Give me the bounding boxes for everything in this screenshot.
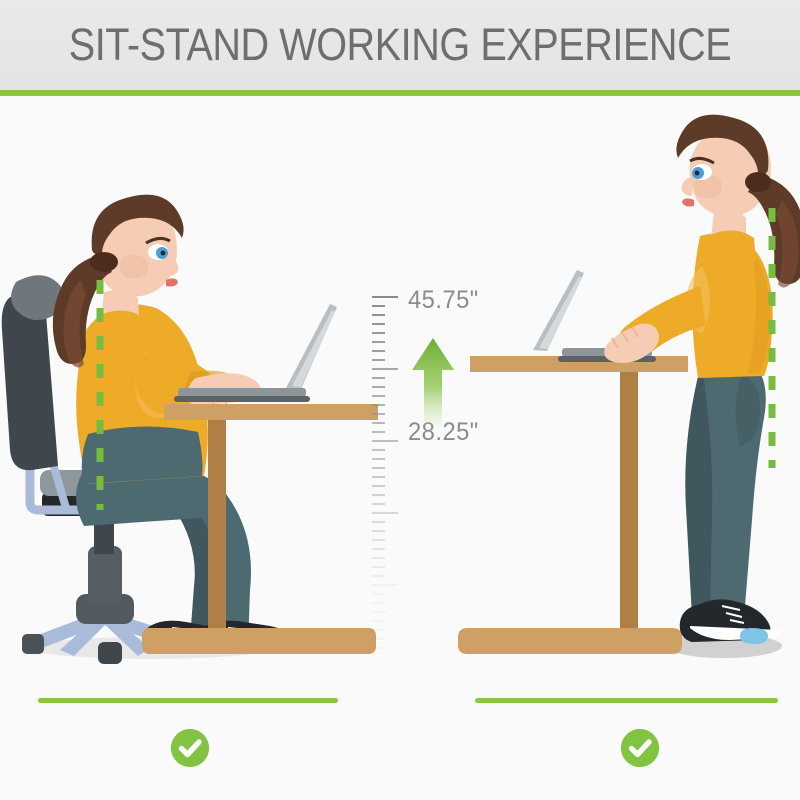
ruler-tick-minor: [372, 467, 385, 469]
ruler-tick-minor: [372, 557, 385, 559]
ruler-tick-minor: [372, 503, 385, 505]
ruler-tick-minor: [372, 485, 385, 487]
ruler-tick-minor: [372, 620, 385, 622]
ruler-tick-minor: [372, 350, 385, 352]
height-ruler: 45.75" 28.25": [372, 296, 492, 656]
ruler-tick-minor: [372, 638, 385, 640]
ruler-max-label: 45.75": [408, 286, 479, 315]
ruler-tick-minor: [372, 521, 385, 523]
ruler-tick-minor: [372, 458, 385, 460]
ruler-tick-minor: [372, 341, 385, 343]
ruler-tick-minor: [372, 539, 385, 541]
ruler-tick-minor: [372, 395, 385, 397]
ruler-tick-minor: [372, 305, 385, 307]
ruler-tick-minor: [372, 377, 385, 379]
shoe-heel-accent: [740, 628, 768, 644]
ruler-tick-minor: [372, 548, 385, 550]
divider-left: [38, 698, 338, 703]
ruler-tick-minor: [372, 647, 385, 649]
ruler-tick-minor: [372, 386, 385, 388]
ruler-tick-minor: [372, 404, 385, 406]
ruler-tick-minor: [372, 422, 385, 424]
ruler-tick-major: [372, 584, 398, 586]
ruler-tick-minor: [372, 449, 385, 451]
shoe-standing: [680, 599, 781, 644]
ruler-tick-minor: [372, 602, 385, 604]
ruler-tick-minor: [372, 314, 385, 316]
ruler-tick-minor: [372, 566, 385, 568]
ruler-tick-minor: [372, 431, 385, 433]
illustration-area: 45.75" 28.25": [0, 96, 800, 800]
ruler-tick-major: [372, 440, 398, 442]
ruler-tick-minor: [372, 530, 385, 532]
check-icon: [171, 729, 209, 767]
ruler-tick-minor: [372, 476, 385, 478]
desk-leg: [620, 372, 638, 628]
check-badge-standing: [621, 729, 659, 767]
divider-right: [475, 698, 778, 703]
ruler-tick-minor: [372, 413, 385, 415]
turtleneck-collar: [704, 230, 756, 265]
arrow-up-icon: [410, 336, 456, 428]
ruler-tick-minor: [372, 593, 385, 595]
ruler-tick-major: [372, 512, 398, 514]
infographic-page: SIT-STAND WORKING EXPERIENCE: [0, 0, 800, 800]
ruler-tick-minor: [372, 494, 385, 496]
ruler-tick-major: [372, 296, 398, 298]
ruler-tick-minor: [372, 575, 385, 577]
ruler-tick-minor: [372, 359, 385, 361]
ruler-tick-minor: [372, 629, 385, 631]
ruler-tick-major: [372, 368, 398, 370]
lips: [682, 198, 694, 206]
ruler-tick-minor: [372, 611, 385, 613]
hair-tie: [745, 172, 771, 192]
standing-desk: [458, 356, 688, 654]
ruler-tick-minor: [372, 323, 385, 325]
check-badge-seated: [171, 729, 209, 767]
check-icon: [621, 729, 659, 767]
ruler-tick-minor: [372, 332, 385, 334]
